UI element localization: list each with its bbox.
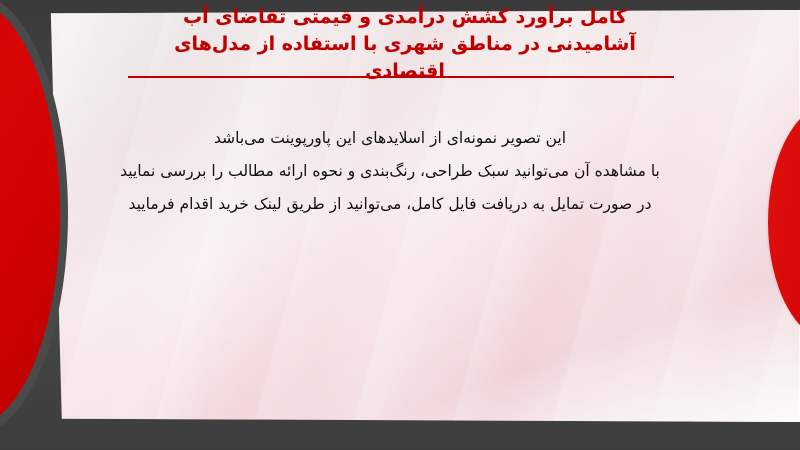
body-line-2: با مشاهده آن می‌توانید سبک طراحی، رنگ‌بن… — [90, 155, 690, 188]
presentation-slide: کامل برآورد کشش درآمدی و قیمتی تقاضای آب… — [0, 0, 800, 450]
title-underline-rule — [128, 76, 674, 78]
slide-title: کامل برآورد کشش درآمدی و قیمتی تقاضای آب… — [110, 4, 700, 85]
title-line-1: کامل برآورد کشش درآمدی و قیمتی تقاضای آب — [110, 4, 700, 31]
slide-body-text: این تصویر نمونه‌ای از اسلایدهای این پاور… — [90, 122, 690, 221]
title-line-3: اقتصادی — [110, 58, 700, 85]
body-line-3: در صورت تمایل به دریافت فایل کامل، می‌تو… — [90, 188, 690, 221]
body-line-1: این تصویر نمونه‌ای از اسلایدهای این پاور… — [90, 122, 690, 155]
title-line-2: آشامیدنی در مناطق شهری با استفاده از مدل… — [110, 31, 700, 58]
